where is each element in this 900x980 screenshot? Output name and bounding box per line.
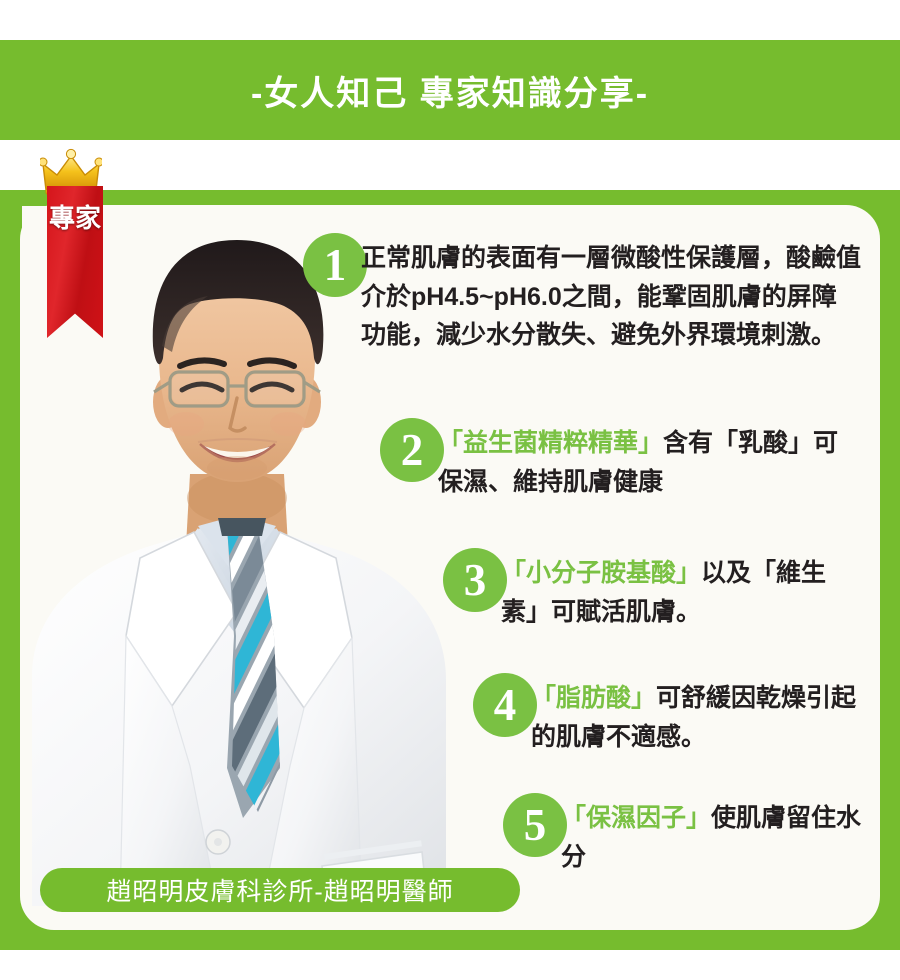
- list-item: 3 「小分子胺基酸」以及「維生素」可賦活肌膚。: [443, 548, 885, 631]
- list-item: 4 「脂肪酸」可舒緩因乾燥引起的肌膚不適感。: [473, 673, 885, 756]
- point-text-4: 「脂肪酸」可舒緩因乾燥引起的肌膚不適感。: [531, 673, 863, 756]
- point-text-5: 「保濕因子」使肌膚留住水分: [561, 793, 863, 876]
- clinic-caption: 趙昭明皮膚科診所-趙昭明醫師: [40, 868, 520, 912]
- point-highlight-3: 「小分子胺基酸」: [501, 559, 701, 587]
- point-number-5: 5: [503, 793, 567, 857]
- list-item: 5 「保濕因子」使肌膚留住水分: [503, 793, 885, 876]
- page-title: -女人知己 專家知識分享-: [251, 66, 649, 115]
- point-text-2: 「益生菌精粹精華」含有「乳酸」可保濕、維持肌膚健康: [438, 418, 863, 501]
- expert-ribbon: 專家: [47, 186, 103, 338]
- point-highlight-5: 「保濕因子」: [561, 804, 711, 832]
- expert-ribbon-label: 專家: [47, 198, 103, 238]
- point-number-4: 4: [473, 673, 537, 737]
- header-banner: -女人知己 專家知識分享-: [0, 40, 900, 140]
- point-text-1: 正常肌膚的表面有一層微酸性保護層，酸鹼值介於pH4.5~pH6.0之間，能鞏固肌…: [361, 233, 861, 355]
- point-highlight-4: 「脂肪酸」: [531, 684, 656, 712]
- list-item: 1 正常肌膚的表面有一層微酸性保護層，酸鹼值介於pH4.5~pH6.0之間，能鞏…: [303, 233, 883, 355]
- point-number-1: 1: [303, 233, 367, 297]
- expert-badge: 專家: [28, 148, 114, 338]
- clinic-caption-label: 趙昭明皮膚科診所-趙昭明醫師: [106, 872, 453, 908]
- point-number-3: 3: [443, 548, 507, 612]
- point-body-1: 正常肌膚的表面有一層微酸性保護層，酸鹼值介於pH4.5~pH6.0之間，能鞏固肌…: [361, 244, 861, 349]
- point-highlight-2: 「益生菌精粹精華」: [438, 429, 663, 457]
- point-number-2: 2: [380, 418, 444, 482]
- list-item: 2 「益生菌精粹精華」含有「乳酸」可保濕、維持肌膚健康: [380, 418, 885, 501]
- promo-page: -女人知己 專家知識分享-: [0, 0, 900, 980]
- point-text-3: 「小分子胺基酸」以及「維生素」可賦活肌膚。: [501, 548, 863, 631]
